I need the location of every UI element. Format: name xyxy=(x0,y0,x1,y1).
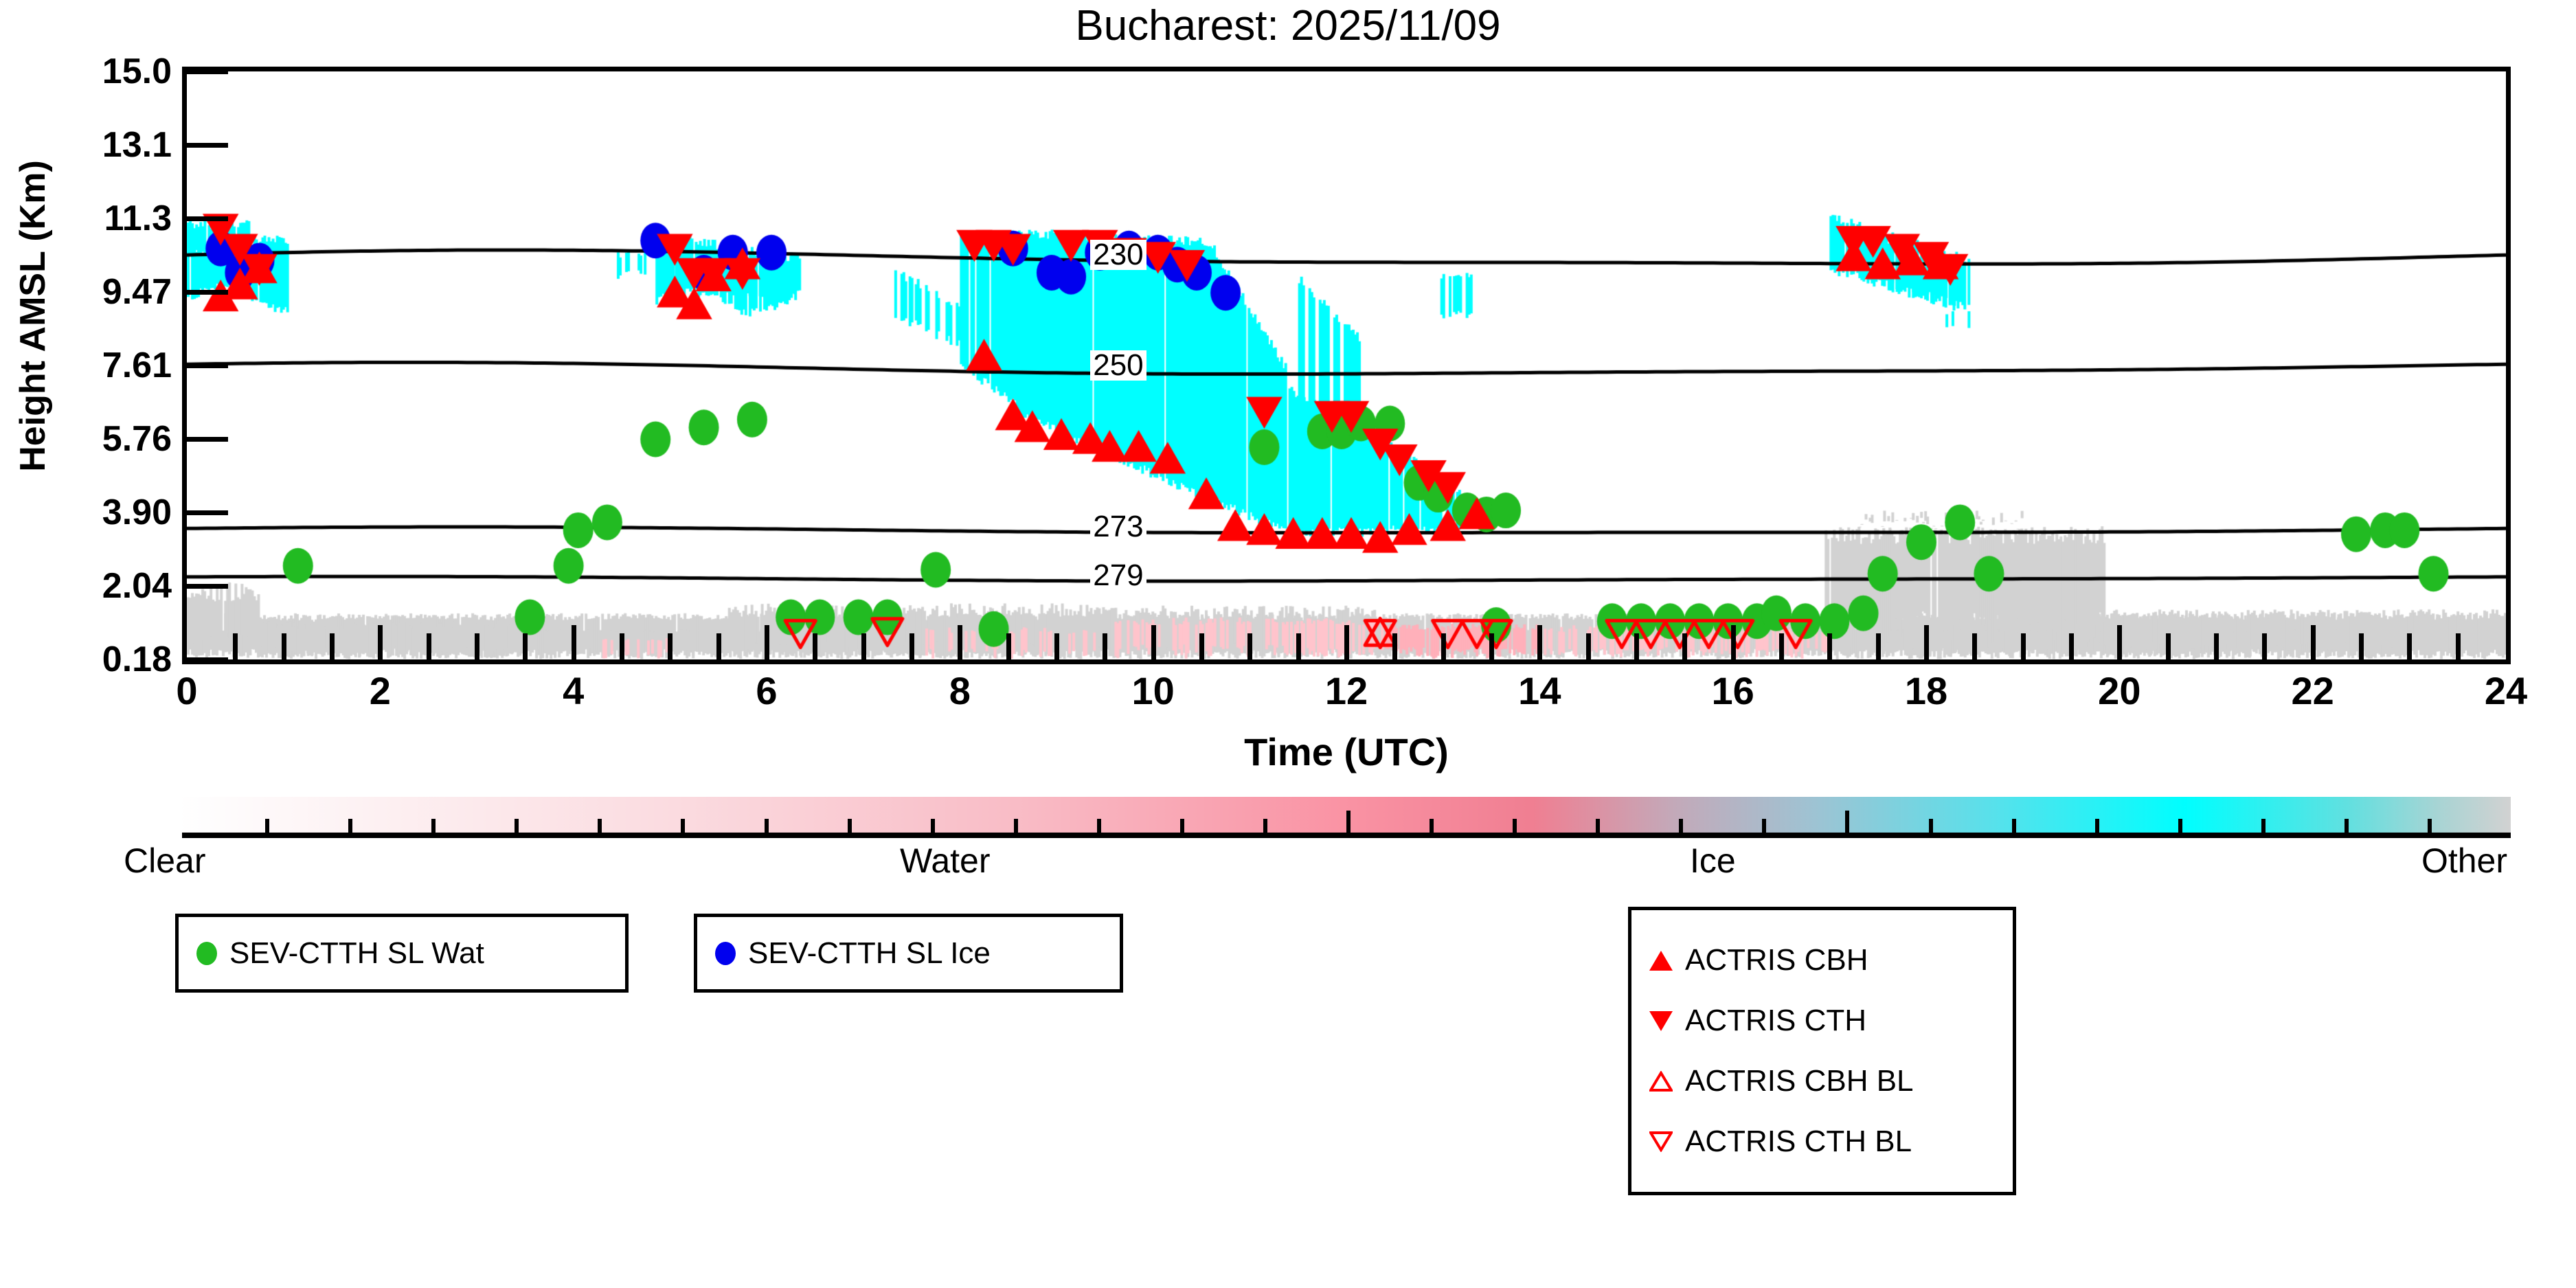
colorbar-tick xyxy=(931,819,935,833)
colorbar-axis xyxy=(182,833,2511,838)
blue-circle-icon xyxy=(715,942,736,965)
x-tick xyxy=(813,633,817,659)
legend-sev-ctth-sl-ice[interactable]: SEV-CTTH SL Ice xyxy=(694,914,1123,993)
colorbar-tick xyxy=(598,819,602,833)
colorbar-tick xyxy=(1845,811,1849,833)
x-tick-label: 20 xyxy=(2064,672,2174,710)
x-tick xyxy=(1924,625,1929,659)
x-tick xyxy=(2069,633,2074,659)
triangle-down-icon xyxy=(1649,1011,1673,1031)
colorbar-tick xyxy=(1346,811,1351,833)
x-tick xyxy=(523,633,528,659)
legend-row: SEV-CTTH SL Wat xyxy=(179,937,625,970)
x-tick xyxy=(1199,633,1204,659)
x-tick xyxy=(1489,633,1494,659)
triangle-down-open-icon xyxy=(1649,1131,1673,1152)
triangle-up-icon xyxy=(1649,951,1673,971)
colorbar-tick xyxy=(348,819,352,833)
isotherm-label: 250 xyxy=(1090,350,1146,381)
y-tick xyxy=(187,510,228,515)
x-axis-label: Time (UTC) xyxy=(182,730,2511,774)
colorbar-label: Other xyxy=(2421,844,2507,878)
x-tick xyxy=(2262,633,2267,659)
x-tick xyxy=(1054,633,1059,659)
x-tick xyxy=(2359,633,2364,659)
y-tick xyxy=(187,290,228,295)
colorbar-tick xyxy=(1097,819,1101,833)
x-tick-label: 6 xyxy=(712,672,822,710)
colorbar-tick xyxy=(765,819,769,833)
colorbar xyxy=(182,797,2511,838)
x-tick xyxy=(1006,633,1011,659)
x-tick xyxy=(1537,625,1542,659)
colorbar-tick xyxy=(2095,819,2099,833)
x-tick-label: 8 xyxy=(905,672,1015,710)
colorbar-tick xyxy=(1263,819,1267,833)
y-tick-label: 7.61 xyxy=(0,348,172,383)
legend-row-actris-cbh-bl: ACTRIS CBH BL xyxy=(1631,1051,2013,1111)
legend-label: ACTRIS CBH BL xyxy=(1685,1066,1914,1096)
x-tick xyxy=(2166,633,2171,659)
x-tick-label: 4 xyxy=(519,672,629,710)
x-tick xyxy=(2214,633,2219,659)
y-tick-label: 11.3 xyxy=(0,201,172,236)
x-tick xyxy=(1972,633,1977,659)
triangle-up-open-icon xyxy=(1649,1071,1673,1092)
x-tick xyxy=(427,633,431,659)
y-tick-label: 2.04 xyxy=(0,568,172,604)
x-tick-label: 14 xyxy=(1484,672,1594,710)
x-tick xyxy=(1827,633,1832,659)
legend-row: SEV-CTTH SL Ice xyxy=(697,937,1120,970)
x-tick-label: 12 xyxy=(1291,672,1401,710)
colorbar-tick xyxy=(431,819,436,833)
y-tick-label: 3.90 xyxy=(0,495,172,530)
legend-row-actris-cth: ACTRIS CTH xyxy=(1631,991,2013,1051)
x-tick xyxy=(330,633,335,659)
x-tick xyxy=(1634,633,1639,659)
colorbar-tick xyxy=(1513,819,1517,833)
legend-row-actris-cth-bl: ACTRIS CTH BL xyxy=(1631,1111,2013,1172)
x-tick xyxy=(1682,633,1687,659)
x-tick xyxy=(861,633,866,659)
green-circle-icon xyxy=(196,942,217,965)
isotherm-label: 230 xyxy=(1090,240,1146,270)
colorbar-tick xyxy=(2261,819,2266,833)
x-tick xyxy=(909,633,914,659)
x-tick-label: 16 xyxy=(1678,672,1788,710)
colorbar-tick xyxy=(848,819,852,833)
y-tick xyxy=(187,216,228,221)
x-tick xyxy=(2456,633,2461,659)
x-tick xyxy=(2407,633,2412,659)
legend-sev-ctth-sl-wat[interactable]: SEV-CTTH SL Wat xyxy=(175,914,629,993)
colorbar-tick xyxy=(1596,819,1600,833)
x-tick xyxy=(572,625,576,659)
colorbar-tick xyxy=(2345,819,2349,833)
x-tick xyxy=(1247,633,1252,659)
x-tick xyxy=(1344,625,1349,659)
y-tick xyxy=(187,437,228,442)
x-tick xyxy=(475,633,479,659)
x-tick xyxy=(765,625,769,659)
x-tick xyxy=(378,625,383,659)
y-tick xyxy=(187,363,228,368)
x-tick xyxy=(1779,633,1784,659)
legend-label: SEV-CTTH SL Ice xyxy=(748,938,991,969)
y-tick xyxy=(187,143,228,148)
legend-actris[interactable]: ACTRIS CBH ACTRIS CTH ACTRIS CBH BL ACTR… xyxy=(1628,907,2016,1195)
x-tick-label: 24 xyxy=(2451,672,2561,710)
colorbar-tick xyxy=(515,819,519,833)
chart-plot-area[interactable]: 230250273279 xyxy=(182,67,2511,664)
isotherm-label: 273 xyxy=(1090,512,1146,542)
x-tick xyxy=(2117,625,2122,659)
colorbar-tick xyxy=(1929,819,1933,833)
y-tick-label: 15.0 xyxy=(0,54,172,89)
y-tick xyxy=(187,69,228,74)
legend-label: ACTRIS CBH xyxy=(1685,945,1868,975)
page-title: Bucharest: 2025/11/09 xyxy=(0,1,2576,50)
x-tick xyxy=(1441,633,1446,659)
x-tick-label: 2 xyxy=(325,672,435,710)
colorbar-tick xyxy=(1014,819,1018,833)
colorbar-label: Clear xyxy=(124,844,205,878)
colorbar-tick xyxy=(1762,819,1766,833)
x-tick xyxy=(1103,633,1107,659)
x-tick xyxy=(1731,625,1736,659)
x-tick xyxy=(958,625,962,659)
x-tick xyxy=(233,633,238,659)
x-tick xyxy=(2311,625,2316,659)
x-tick xyxy=(2021,633,2026,659)
colorbar-tick xyxy=(2178,819,2182,833)
legend-label: ACTRIS CTH xyxy=(1685,1006,1866,1036)
x-tick xyxy=(1876,633,1881,659)
y-tick xyxy=(187,657,228,662)
colorbar-label: Ice xyxy=(1690,844,1736,878)
x-tick-label: 10 xyxy=(1098,672,1208,710)
legend-label: ACTRIS CTH BL xyxy=(1685,1127,1912,1157)
colorbar-tick xyxy=(1679,819,1683,833)
chart-canvas xyxy=(187,71,2506,659)
x-tick xyxy=(1392,633,1397,659)
colorbar-tick xyxy=(2012,819,2016,833)
colorbar-tick xyxy=(2428,819,2432,833)
colorbar-tick xyxy=(265,819,269,833)
x-tick-label: 0 xyxy=(132,672,242,710)
colorbar-label: Water xyxy=(900,844,991,878)
x-tick xyxy=(620,633,624,659)
colorbar-tick xyxy=(681,819,685,833)
x-tick xyxy=(1586,633,1591,659)
x-tick xyxy=(716,633,721,659)
legend-row-actris-cbh: ACTRIS CBH xyxy=(1631,930,2013,991)
colorbar-tick xyxy=(1430,819,1434,833)
y-tick-label: 9.47 xyxy=(0,274,172,310)
colorbar-tick xyxy=(1180,819,1184,833)
y-tick xyxy=(187,584,228,589)
x-tick xyxy=(1151,625,1156,659)
x-tick xyxy=(282,633,286,659)
legend-label: SEV-CTTH SL Wat xyxy=(229,938,484,969)
isotherm-label: 279 xyxy=(1090,561,1146,591)
x-tick-label: 22 xyxy=(2258,672,2368,710)
x-tick-label: 18 xyxy=(1871,672,1981,710)
y-tick-label: 5.76 xyxy=(0,421,172,457)
x-tick xyxy=(1296,633,1301,659)
x-tick xyxy=(668,633,673,659)
y-tick-label: 13.1 xyxy=(0,127,172,163)
